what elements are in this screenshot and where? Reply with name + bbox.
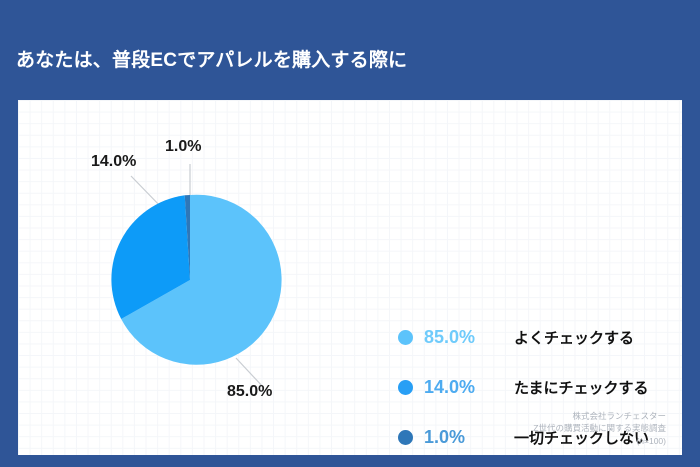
legend-item-yoku-check[interactable]: 85.0% よくチェックする bbox=[398, 312, 682, 362]
legend-color-dot-icon-slice1 bbox=[398, 330, 413, 345]
attribution-survey: Z世代の購買活動に関する実態調査 bbox=[533, 422, 666, 435]
legend-item-tamani-check[interactable]: 14.0% たまにチェックする bbox=[398, 362, 682, 412]
page-title-line-1: あなたは、普段ECでアパレルを購入する際に bbox=[16, 46, 676, 76]
pie-value-label-slice3: 1.0% bbox=[165, 138, 201, 156]
legend-percent-slice3: 1.0% bbox=[424, 427, 502, 448]
attribution-company: 株式会社ランチェスター bbox=[533, 410, 666, 423]
attribution-sample-size: (n=100) bbox=[533, 435, 666, 448]
header-banner: あなたは、普段ECでアパレルを購入する際に 「コーディネート（着用画像）」をチェ… bbox=[0, 0, 700, 100]
chart-card: 85.0% 14.0% 1.0% 85.0% よくチェックする 14.0% たま… bbox=[18, 100, 682, 455]
legend-label-slice2: たまにチェックする bbox=[514, 377, 649, 398]
pie-value-label-slice2: 14.0% bbox=[91, 153, 136, 171]
legend-color-dot-icon-slice2 bbox=[398, 380, 413, 395]
legend-color-dot-icon-slice3 bbox=[398, 430, 413, 445]
legend-percent-slice1: 85.0% bbox=[424, 327, 502, 348]
attribution: 株式会社ランチェスター Z世代の購買活動に関する実態調査 (n=100) bbox=[533, 410, 666, 448]
pie-value-label-slice1: 85.0% bbox=[227, 383, 272, 401]
legend-percent-slice2: 14.0% bbox=[424, 377, 502, 398]
chart-screenshot: あなたは、普段ECでアパレルを購入する際に 「コーディネート（着用画像）」をチェ… bbox=[0, 0, 700, 467]
legend-label-slice1: よくチェックする bbox=[514, 327, 634, 348]
